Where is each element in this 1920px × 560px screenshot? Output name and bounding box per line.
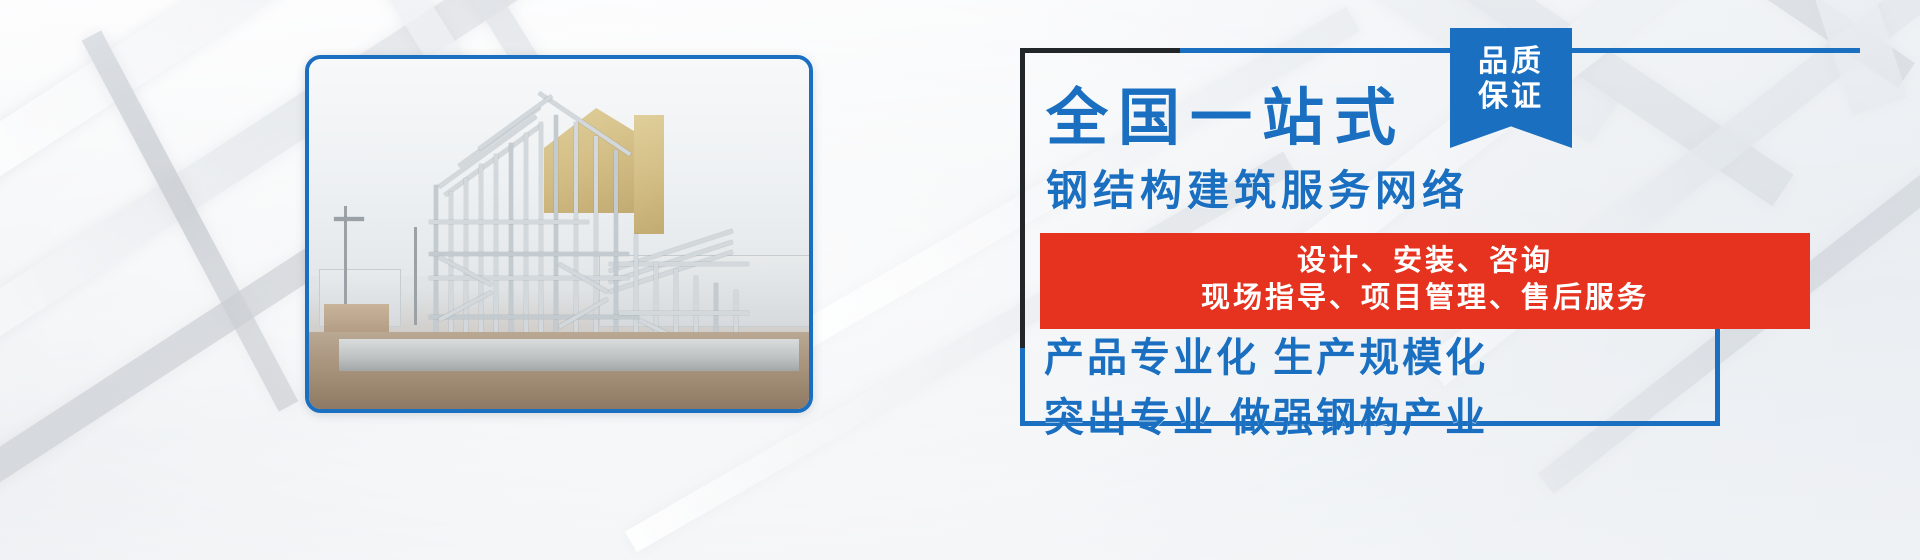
ribbon-text-line-1: 品质	[1478, 44, 1544, 79]
headline-primary: 全国一站式	[1046, 88, 1406, 150]
services-line-1: 设计、安装、咨询	[1040, 243, 1810, 280]
wall-stud	[574, 122, 578, 367]
floor-plate	[429, 315, 639, 319]
slogan-line-2: 突出专业 做强钢构产业	[1044, 398, 1488, 438]
porch-beam	[609, 262, 749, 266]
concrete-slab	[339, 339, 799, 371]
bracket-top-left	[1020, 48, 1180, 53]
brace	[558, 297, 608, 328]
slogan-line-1: 产品专业化 生产规模化	[1044, 338, 1488, 378]
floor-plate	[619, 311, 749, 315]
ribbon-text-line-2: 保证	[1478, 79, 1544, 114]
rafter	[438, 115, 537, 189]
floor-plate	[429, 276, 629, 280]
osb-chimney	[634, 115, 664, 234]
floor-plate	[429, 220, 589, 224]
construction-photo	[309, 59, 809, 409]
wall-stud	[554, 115, 558, 367]
floor-plate	[429, 252, 629, 256]
photo-card	[305, 55, 813, 413]
headline-secondary: 钢结构建筑服务网络	[1046, 170, 1469, 212]
text-panel: 全国一站式 钢结构建筑服务网络 设计、安装、咨询 现场指导、项目管理、售后服务 …	[1020, 48, 1860, 426]
bracket-left-lower	[1020, 348, 1025, 426]
services-line-2: 现场指导、项目管理、售后服务	[1040, 280, 1810, 317]
bracket-left	[1020, 48, 1025, 348]
services-highlight-box: 设计、安装、咨询 现场指导、项目管理、售后服务	[1040, 233, 1810, 329]
promotional-banner: 全国一站式 钢结构建筑服务网络 设计、安装、咨询 现场指导、项目管理、售后服务 …	[0, 0, 1920, 560]
wall-stud	[539, 122, 543, 367]
